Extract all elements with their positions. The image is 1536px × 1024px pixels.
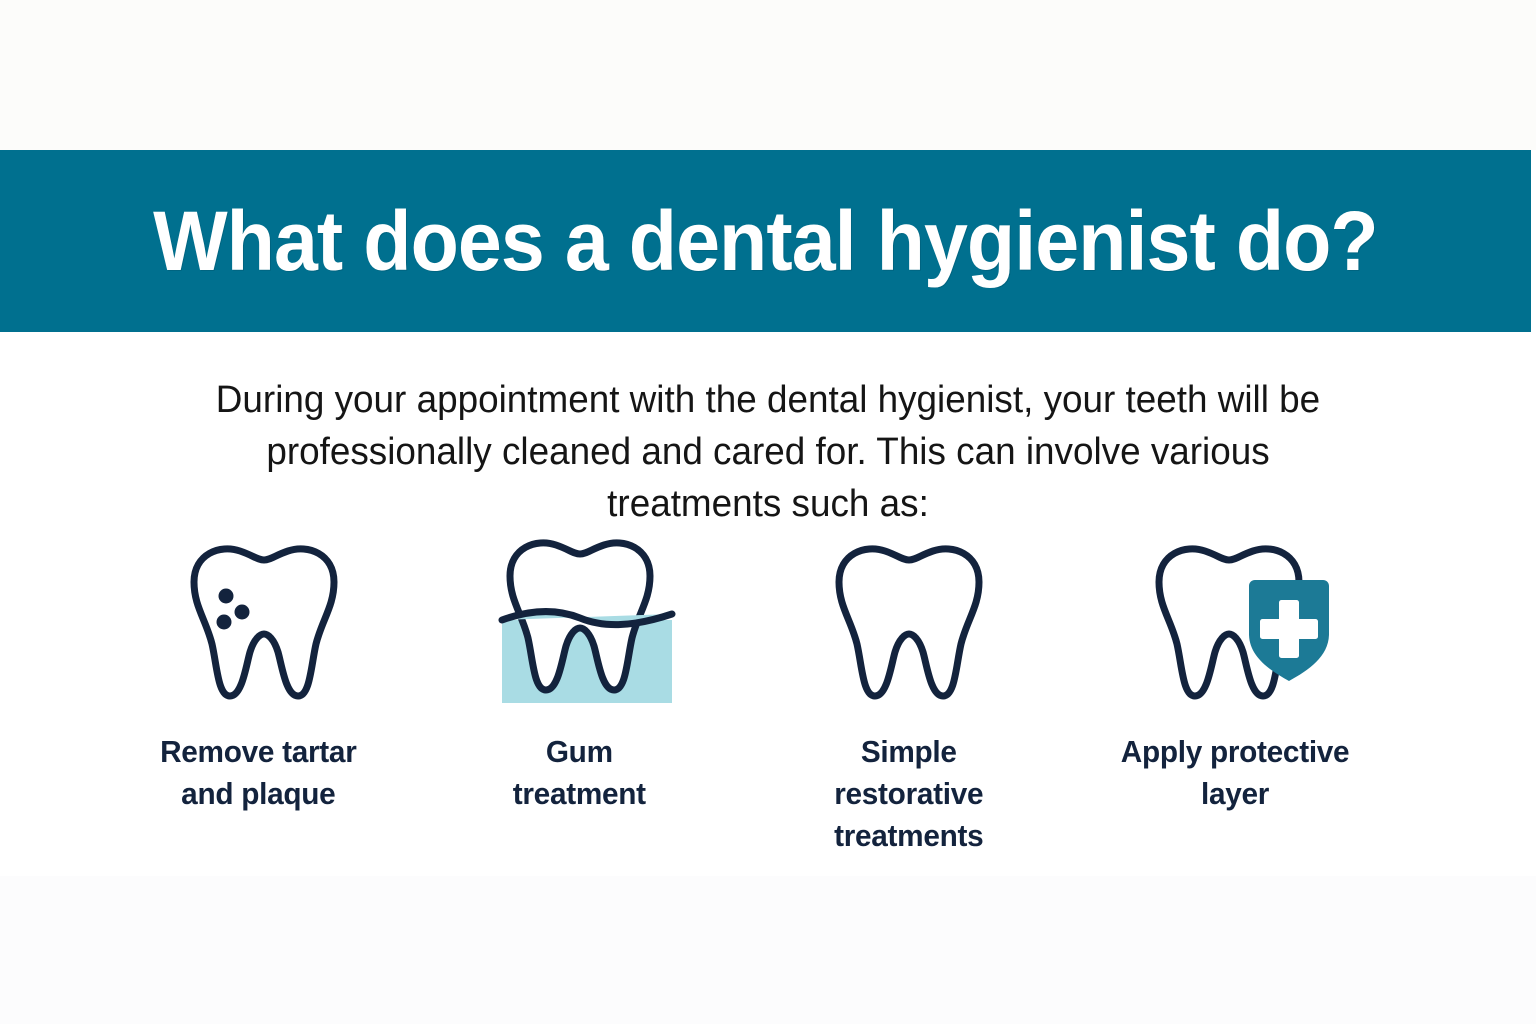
treatment-icon-row: Remove tartar and plaque Gum treatment: [96, 534, 1396, 864]
treatment-label: Gum treatment: [513, 731, 646, 815]
intro-line-1: During your appointment with the dental …: [138, 374, 1399, 426]
intro-line-3: treatments such as:: [138, 478, 1399, 530]
title-banner: What does a dental hygienist do?: [0, 150, 1531, 332]
treatment-item-simple-restorative: Simple restorative treatments: [746, 534, 1071, 857]
treatment-label-line-2: layer: [1121, 773, 1350, 815]
intro-line-2: professionally cleaned and cared for. Th…: [138, 426, 1399, 478]
treatment-label-line-3: treatments: [834, 815, 983, 857]
tooth-in-gum-icon: [480, 534, 680, 709]
plain-tooth-icon: [809, 534, 1009, 709]
top-background-band: [0, 0, 1536, 150]
tooth-with-shield-icon: [1141, 534, 1341, 709]
infographic-page: What does a dental hygienist do? During …: [0, 0, 1536, 1024]
treatment-label-line-1: Remove tartar: [160, 731, 356, 773]
treatment-item-remove-tartar: Remove tartar and plaque: [96, 534, 421, 815]
treatment-label-line-2: and plaque: [160, 773, 356, 815]
treatment-label: Remove tartar and plaque: [160, 731, 356, 815]
treatment-label-line-1: Apply protective: [1121, 731, 1350, 773]
treatment-label-line-1: Simple: [834, 731, 983, 773]
treatment-label: Simple restorative treatments: [834, 731, 983, 857]
treatment-label-line-2: treatment: [513, 773, 646, 815]
page-title: What does a dental hygienist do?: [153, 199, 1378, 283]
intro-paragraph: During your appointment with the dental …: [138, 374, 1399, 530]
bottom-background-band: [0, 876, 1536, 1024]
treatment-item-protective-layer: Apply protective layer: [1071, 534, 1396, 815]
tooth-with-tartar-spots-icon: [164, 534, 364, 709]
treatment-label-line-2: restorative: [834, 773, 983, 815]
treatment-label-line-1: Gum: [513, 731, 646, 773]
treatment-label: Apply protective layer: [1121, 731, 1350, 815]
treatment-item-gum-treatment: Gum treatment: [421, 534, 746, 815]
